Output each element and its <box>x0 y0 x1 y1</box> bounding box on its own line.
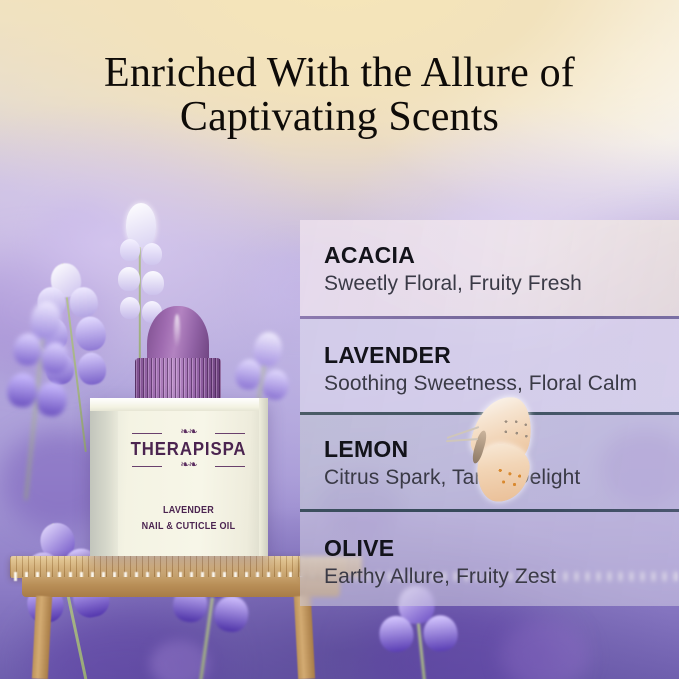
scent-row-acacia: ACACIA Sweetly Floral, Fruity Fresh <box>300 220 679 316</box>
product-type: NAIL & CUTICLE OIL <box>125 521 252 532</box>
scent-name: LEMON <box>324 436 408 463</box>
label-rule-bottom-right <box>215 466 245 467</box>
scent-name: LAVENDER <box>324 342 451 369</box>
label-rule-top-right <box>215 433 245 434</box>
scent-description: Earthy Allure, Fruity Zest <box>324 565 556 589</box>
scent-name: OLIVE <box>324 535 394 562</box>
butterfly-icon <box>447 396 543 508</box>
label-flourish-bottom: ❧❧ <box>180 460 196 471</box>
row-separator <box>300 316 679 319</box>
wing-spots-upper <box>496 417 536 457</box>
scent-name: ACACIA <box>324 242 415 269</box>
scent-row-olive: OLIVE Earthy Allure, Fruity Zest <box>300 509 679 606</box>
headline-line-1: Enriched With the Allure of <box>0 52 679 96</box>
headline-line-2: Captivating Scents <box>0 96 679 140</box>
scent-description: Soothing Sweetness, Floral Calm <box>324 372 637 396</box>
brand-name: THERAPISPA <box>123 439 254 460</box>
bottle-label: ❧❧ THERAPISPA ❧❧ LAVENDER NAIL & CUTICLE… <box>118 411 259 556</box>
bottle-right-edge <box>259 398 268 556</box>
product-marketing-image: ❧❧ THERAPISPA ❧❧ LAVENDER NAIL & CUTICLE… <box>0 0 679 679</box>
page-title: Enriched With the Allure of Captivating … <box>0 52 679 139</box>
product-variant: LAVENDER <box>125 505 252 516</box>
bottle-top-edge <box>90 398 268 411</box>
scent-description: Sweetly Floral, Fruity Fresh <box>324 272 582 296</box>
bottle-left-face <box>90 398 118 556</box>
row-separator <box>300 509 679 512</box>
label-rule-bottom-left <box>132 466 162 467</box>
wing-spots-lower <box>493 466 528 494</box>
bottle-body: ❧❧ THERAPISPA ❧❧ LAVENDER NAIL & CUTICLE… <box>90 398 268 556</box>
label-flourish-top: ❧❧ <box>180 427 196 438</box>
product-bottle: ❧❧ THERAPISPA ❧❧ LAVENDER NAIL & CUTICLE… <box>88 306 268 556</box>
label-rule-top-left <box>132 433 162 434</box>
